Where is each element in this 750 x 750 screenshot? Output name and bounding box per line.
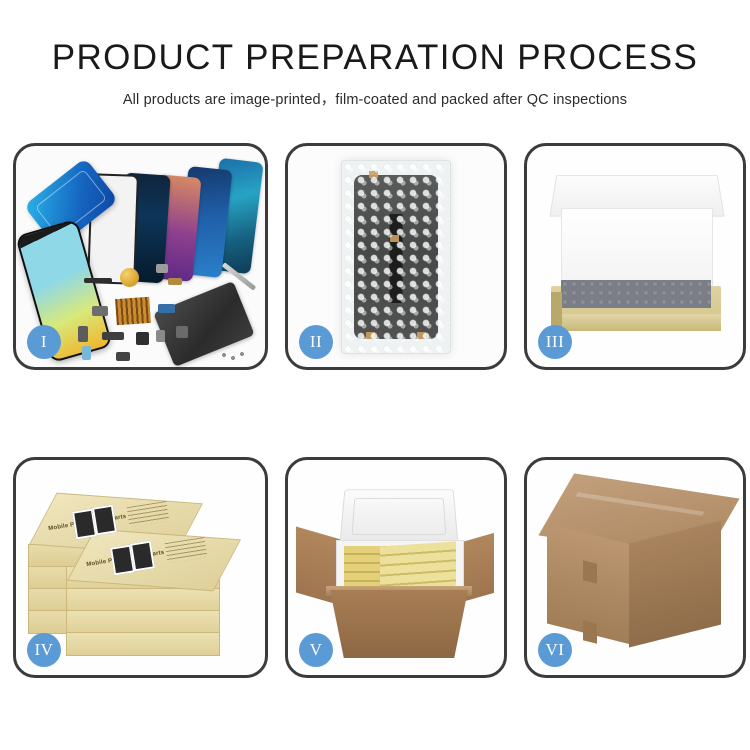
step-card-4: Mobile Phone Spare Parts Mobile Phone Sp… [13, 457, 268, 678]
bubble-wrap-bag [341, 160, 451, 354]
page-title: PRODUCT PREPARATION PROCESS [0, 40, 750, 75]
stacked-box [66, 610, 220, 634]
step-card-1: I [13, 143, 268, 370]
box-stack: Mobile Phone Spare Parts Mobile Phone Sp… [28, 484, 228, 656]
box-label-thumbnail [92, 505, 117, 536]
step-card-6: VI [524, 457, 746, 678]
step-card-5: V [285, 457, 507, 678]
step-badge-3: III [538, 325, 572, 359]
part-bracket [78, 326, 88, 342]
part-gold-clip [168, 278, 182, 285]
process-step-grid: I II [13, 143, 737, 678]
product-preparation-infographic: PRODUCT PREPARATION PROCESS All products… [0, 0, 750, 750]
gold-component-icon [120, 268, 139, 287]
header: PRODUCT PREPARATION PROCESS All products… [0, 0, 750, 109]
step-badge-4: IV [27, 633, 61, 667]
part-flex-strip [84, 278, 112, 283]
inner-boxes-yellow [380, 541, 456, 590]
step-card-2: II [285, 143, 507, 370]
step-badge-2: II [299, 325, 333, 359]
box-front-panel [551, 314, 721, 331]
part-shield [116, 352, 130, 361]
part-button [156, 330, 165, 342]
part-sensor [82, 346, 91, 360]
step-badge-1: I [27, 325, 61, 359]
part-connector [156, 264, 168, 273]
page-subtitle: All products are image-printed，film-coat… [0, 88, 750, 109]
part-blue-flex [158, 304, 175, 313]
carton-tape [583, 560, 597, 583]
stacked-box [66, 632, 220, 656]
carton-right-face [629, 521, 721, 648]
bubble-wrapped-contents [561, 280, 711, 308]
step-badge-5: V [299, 633, 333, 667]
step-card-3: III [524, 143, 746, 370]
part-speaker [176, 326, 188, 338]
carton-tape [583, 620, 597, 643]
foam-lid [339, 489, 458, 545]
carton-body [330, 590, 468, 658]
stacked-box [66, 588, 220, 612]
step-badge-6: VI [538, 633, 572, 667]
part-cable [102, 332, 124, 340]
box-label-thumbnail [130, 541, 155, 572]
part-camera [136, 332, 149, 345]
part-module [92, 306, 108, 316]
screws-icon [221, 351, 247, 361]
chip-grid-component [115, 297, 151, 325]
bubble-texture-highlight [342, 161, 450, 353]
